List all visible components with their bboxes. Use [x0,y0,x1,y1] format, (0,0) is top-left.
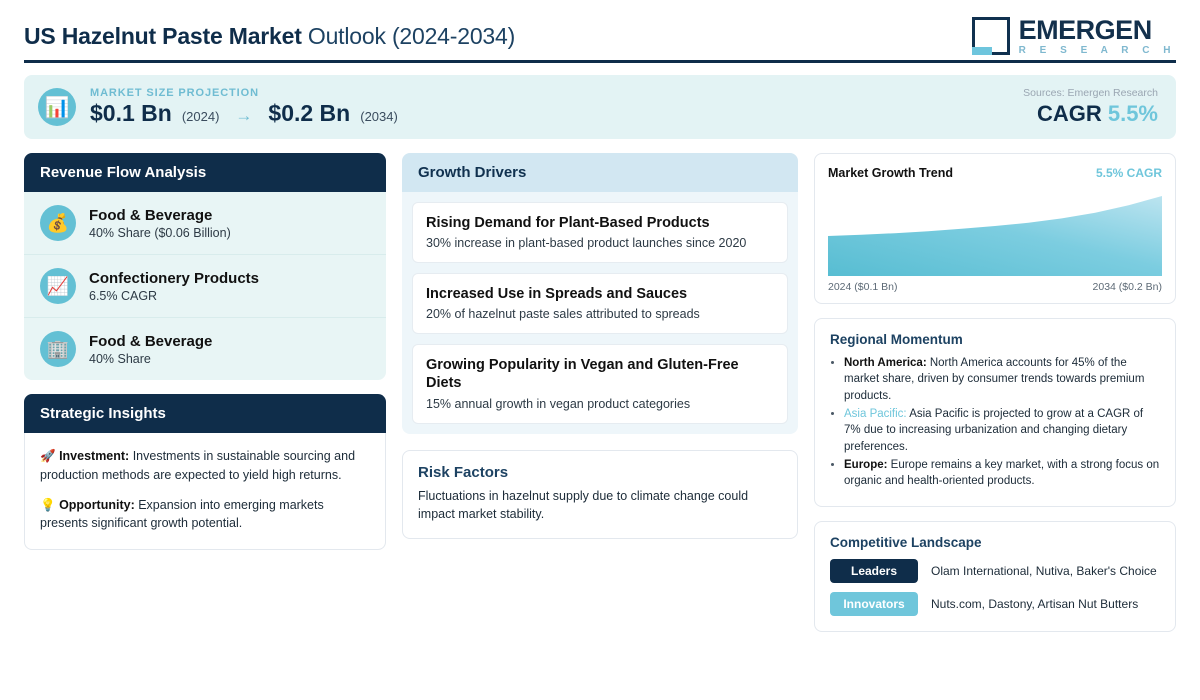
strategic-insights-body: 🚀 Investment: Investments in sustainable… [25,433,385,549]
page-title-light: Outlook (2024-2034) [308,23,515,49]
page-title-bold: US Hazelnut Paste Market [24,23,302,49]
middle-column: Growth Drivers Rising Demand for Plant-B… [402,153,798,539]
flow-row-detail: 40% Share [89,352,212,366]
page-title: US Hazelnut Paste Market Outlook (2024-2… [24,23,515,50]
chart-header: Market Growth Trend 5.5% CAGR [828,166,1162,180]
market-size-banner: 📊 MARKET SIZE PROJECTION $0.1 Bn (2024) … [24,75,1176,139]
regional-momentum-list: North America: North America accounts fo… [844,355,1160,490]
insight-label: Opportunity: [59,498,135,512]
market-size-start-year: (2024) [182,109,220,124]
logo-secondary-text: R E S E A R C H [1019,46,1176,56]
banner-right-group: Sources: Emergen Research CAGR 5.5% [1023,87,1158,127]
chart-axis-end: 2034 ($0.2 Bn) [1093,281,1162,293]
list-item[interactable]: Rising Demand for Plant-Based Products 3… [412,202,788,263]
status-badge-innovators: Innovators [830,592,918,616]
cagr-summary: CAGR 5.5% [1023,101,1158,127]
list-item[interactable]: 📈 Confectionery Products 6.5% CAGR [24,255,386,318]
logo-wordmark: EMERGEN R E S E A R C H [1019,17,1176,56]
list-item: Leaders Olam International, Nutiva, Bake… [830,559,1160,583]
revenue-flow-list: 💰 Food & Beverage 40% Share ($0.06 Billi… [24,192,386,380]
chart-cagr-badge: 5.5% CAGR [1096,166,1162,180]
brand-logo: EMERGEN R E S E A R C H [972,17,1176,56]
flow-row-name: Food & Beverage [89,207,231,224]
lightbulb-icon: 💡 [40,498,56,512]
list-item: Asia Pacific: Asia Pacific is projected … [844,406,1160,455]
chart-axis-start: 2024 ($0.1 Bn) [828,281,897,293]
competitive-landscape-card: Competitive Landscape Leaders Olam Inter… [814,521,1176,632]
banner-left-group: 📊 MARKET SIZE PROJECTION $0.1 Bn (2024) … [38,87,398,127]
flow-row-text: Confectionery Products 6.5% CAGR [89,270,259,303]
bar-chart-icon: 📊 [38,88,76,126]
risk-factors-title: Risk Factors [418,464,782,481]
list-item[interactable]: 💰 Food & Beverage 40% Share ($0.06 Billi… [24,192,386,255]
driver-title: Rising Demand for Plant-Based Products [426,214,774,232]
risk-factors-text: Fluctuations in hazelnut supply due to c… [418,487,782,523]
growth-drivers-title: Growth Drivers [402,153,798,192]
driver-title: Growing Popularity in Vegan and Gluten-F… [426,356,774,392]
competitive-landscape-title: Competitive Landscape [830,535,1160,550]
insight-label: Investment: [59,449,129,463]
driver-title: Increased Use in Spreads and Sauces [426,285,774,303]
driver-detail: 20% of hazelnut paste sales attributed t… [426,307,774,321]
flow-row-text: Food & Beverage 40% Share ($0.06 Billion… [89,207,231,240]
sources-text: Sources: Emergen Research [1023,87,1158,99]
insight-item: 🚀 Investment: Investments in sustainable… [40,447,370,485]
market-size-end-year: (2034) [360,109,398,124]
status-badge-leaders: Leaders [830,559,918,583]
banner-label: MARKET SIZE PROJECTION [90,87,398,99]
region-label: North America: [844,357,927,369]
growth-area-chart [828,188,1162,276]
rocket-icon: 🚀 [40,449,56,463]
revenue-flow-card: Revenue Flow Analysis 💰 Food & Beverage … [24,153,386,380]
logo-primary-text: EMERGEN [1019,17,1176,44]
strategic-insights-shell: 🚀 Investment: Investments in sustainable… [24,433,386,550]
driver-detail: 30% increase in plant-based product laun… [426,236,774,250]
chart-increasing-icon: 📈 [40,268,76,304]
driver-detail: 15% annual growth in vegan product categ… [426,397,774,411]
market-size-end-value: $0.2 Bn [268,100,350,127]
header-divider [24,60,1176,63]
office-building-icon: 🏢 [40,331,76,367]
region-text: Europe remains a key market, with a stro… [844,459,1159,487]
market-size-start-value: $0.1 Bn [90,100,172,127]
page-header: US Hazelnut Paste Market Outlook (2024-2… [24,0,1176,58]
strategic-insights-card: Strategic Insights 🚀 Investment: Investm… [24,394,386,550]
right-column: Market Growth Trend 5.5% CAGR [814,153,1176,632]
regional-momentum-card: Regional Momentum North America: North A… [814,318,1176,507]
cagr-value: 5.5% [1108,101,1158,126]
area-chart-svg [828,188,1162,276]
leaders-company-names: Olam International, Nutiva, Baker's Choi… [931,564,1157,578]
chart-axis-labels: 2024 ($0.1 Bn) 2034 ($0.2 Bn) [828,281,1162,293]
banner-text-group: MARKET SIZE PROJECTION $0.1 Bn (2024) → … [90,87,398,127]
insight-item: 💡 Opportunity: Expansion into emerging m… [40,496,370,534]
flow-row-detail: 40% Share ($0.06 Billion) [89,226,231,240]
list-item[interactable]: Increased Use in Spreads and Sauces 20% … [412,273,788,334]
list-item: Innovators Nuts.com, Dastony, Artisan Nu… [830,592,1160,616]
arrow-right-icon: → [229,106,258,126]
content-columns: Revenue Flow Analysis 💰 Food & Beverage … [24,153,1176,632]
flow-row-name: Confectionery Products [89,270,259,287]
report-page: US Hazelnut Paste Market Outlook (2024-2… [0,0,1200,700]
revenue-flow-title: Revenue Flow Analysis [24,153,386,192]
regional-momentum-title: Regional Momentum [830,332,1160,347]
money-bag-icon: 💰 [40,205,76,241]
flow-row-name: Food & Beverage [89,333,212,350]
strategic-insights-title: Strategic Insights [24,394,386,433]
region-label: Asia Pacific: [844,408,907,420]
flow-row-detail: 6.5% CAGR [89,289,259,303]
logo-square-icon [972,17,1010,55]
flow-row-text: Food & Beverage 40% Share [89,333,212,366]
list-item[interactable]: Growing Popularity in Vegan and Gluten-F… [412,344,788,423]
innovators-company-names: Nuts.com, Dastony, Artisan Nut Butters [931,597,1138,611]
market-growth-trend-card: Market Growth Trend 5.5% CAGR [814,153,1176,304]
list-item: North America: North America accounts fo… [844,355,1160,404]
list-item: Europe: Europe remains a key market, wit… [844,457,1160,490]
banner-figures: $0.1 Bn (2024) → $0.2 Bn (2034) [90,100,398,127]
chart-title: Market Growth Trend [828,166,953,180]
risk-factors-card: Risk Factors Fluctuations in hazelnut su… [402,450,798,539]
growth-drivers-list: Rising Demand for Plant-Based Products 3… [402,192,798,434]
list-item[interactable]: 🏢 Food & Beverage 40% Share [24,318,386,380]
region-label: Europe: [844,459,887,471]
growth-drivers-card: Growth Drivers Rising Demand for Plant-B… [402,153,798,434]
cagr-label: CAGR [1037,101,1102,126]
left-column: Revenue Flow Analysis 💰 Food & Beverage … [24,153,386,550]
